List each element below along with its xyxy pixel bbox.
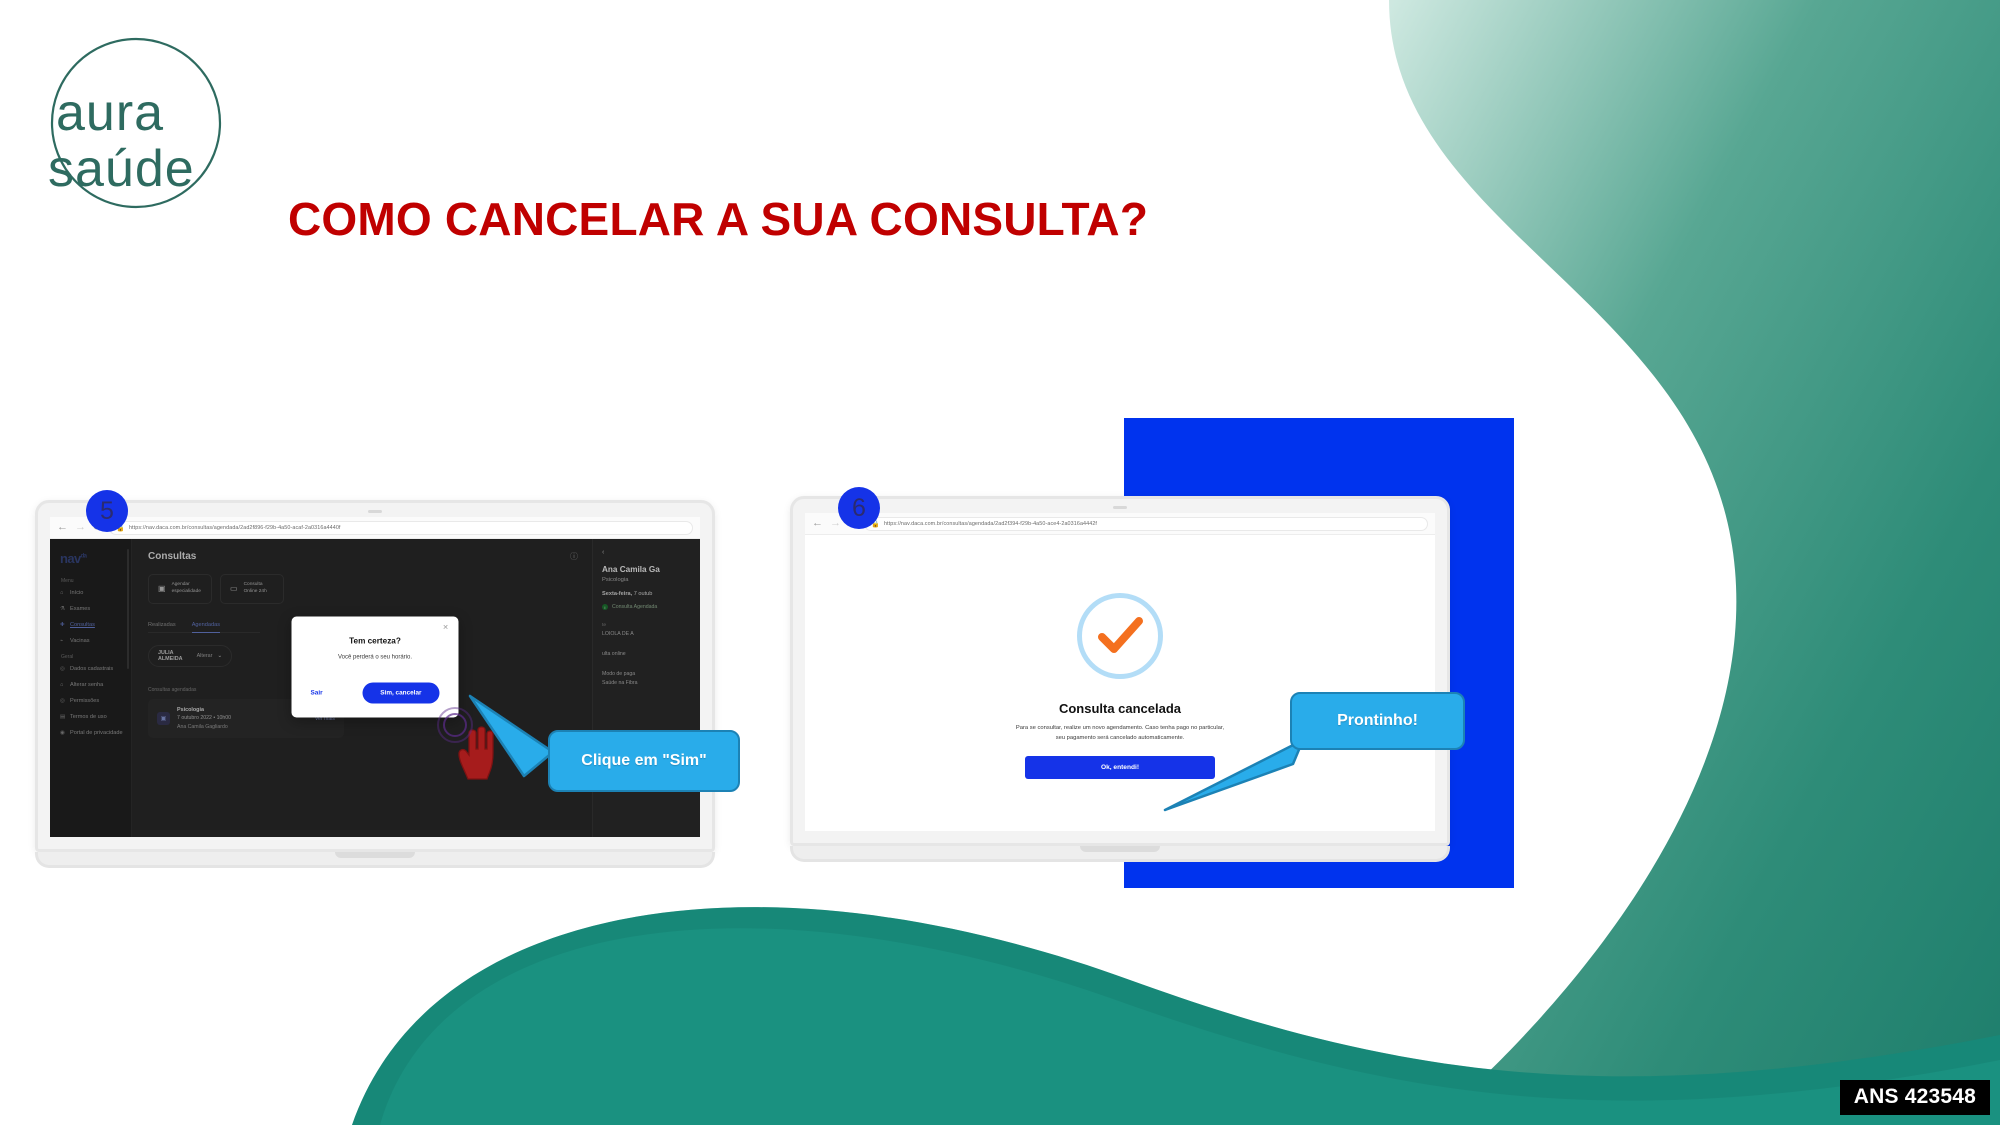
callout-bubble-2: Prontinho! <box>1290 692 1465 750</box>
success-check-ring <box>1077 593 1163 679</box>
svg-text:saúde: saúde <box>48 140 195 198</box>
laptop-notch <box>1080 846 1160 852</box>
brand-logo: aura saúde <box>30 28 242 218</box>
slide-canvas: aura saúde COMO CANCELAR A SUA CONSULTA?… <box>0 0 2000 1125</box>
step-number: 5 <box>100 497 114 526</box>
callout-bubble-1: Clique em "Sim" <box>548 730 740 792</box>
url-text: https://nav.daca.com.br/consultas/agenda… <box>884 521 1097 527</box>
aura-saude-logo-mark: aura saúde <box>30 28 242 218</box>
check-icon <box>1092 608 1148 664</box>
laptop-base <box>790 846 1450 862</box>
callout-clique-em-sim: Clique em "Sim" <box>548 730 740 792</box>
browser-toolbar-1: ← → ⟳ 🔒 https://nav.daca.com.br/consulta… <box>50 517 700 539</box>
back-icon[interactable]: ← <box>57 522 68 533</box>
step-badge-5: 5 <box>86 490 128 532</box>
forward-icon[interactable]: → <box>75 522 86 533</box>
forward-icon[interactable]: → <box>830 518 841 529</box>
browser-toolbar-2: ← → ⟳ 🔒 https://nav.daca.com.br/consulta… <box>805 513 1435 535</box>
svg-text:aura: aura <box>56 84 164 142</box>
success-title: Consulta cancelada <box>1059 701 1181 716</box>
page-title: COMO CANCELAR A SUA CONSULTA? <box>288 192 1148 246</box>
modal-body-text: Você perderá o seu horário. <box>306 655 445 661</box>
step-badge-6: 6 <box>838 487 880 529</box>
address-bar-1[interactable]: 🔒 https://nav.daca.com.br/consultas/agen… <box>109 521 693 535</box>
ans-registration-badge: ANS 423548 <box>1840 1080 1990 1115</box>
url-text: https://nav.daca.com.br/consultas/agenda… <box>129 525 341 531</box>
address-bar-2[interactable]: 🔒 https://nav.daca.com.br/consultas/agen… <box>864 517 1428 531</box>
laptop-notch <box>335 852 415 858</box>
step-number: 6 <box>852 494 866 523</box>
modal-title: Tem certeza? <box>306 637 445 646</box>
sair-button[interactable]: Sair <box>311 690 323 697</box>
callout-text: Prontinho! <box>1337 712 1418 730</box>
modal-actions: Sair Sim, cancelar <box>306 683 445 704</box>
webcam-icon <box>1113 506 1127 509</box>
back-icon[interactable]: ← <box>812 518 823 529</box>
callout-prontinho: Prontinho! <box>1290 692 1465 750</box>
close-icon[interactable]: ✕ <box>443 624 449 632</box>
laptop-base <box>35 852 715 868</box>
webcam-icon <box>368 510 382 513</box>
callout-text: Clique em "Sim" <box>581 752 706 770</box>
